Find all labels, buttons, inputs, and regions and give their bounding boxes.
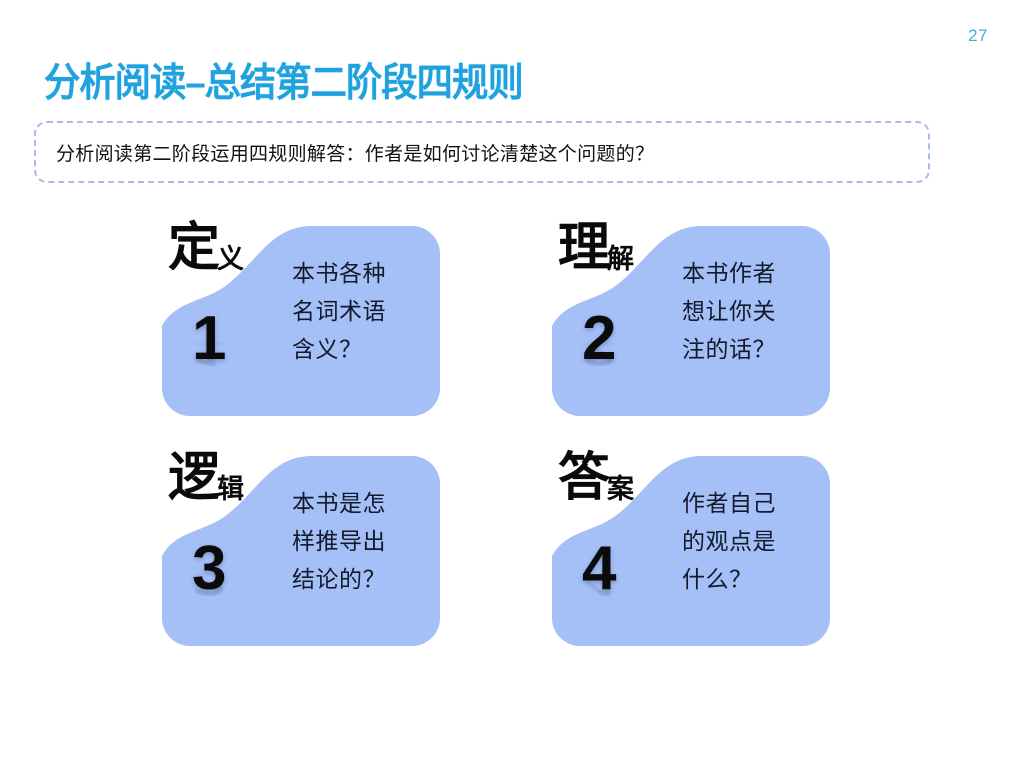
card-body-3: 本书是怎 样推导出 结论的？: [292, 484, 428, 598]
page-number: 27: [968, 26, 988, 46]
rule-card-1[interactable]: 1 定义 1 本书各种 名词术语 含义？: [162, 226, 440, 416]
card-label-1: 定义: [168, 222, 245, 274]
card-label-primary-4: 答: [558, 449, 608, 507]
card-body-line: 注的话？: [682, 330, 818, 368]
card-body-line: 样推导出: [292, 522, 428, 560]
subtitle-callout: 分析阅读第二阶段运用四规则解答：作者是如何讨论清楚这个问题的？: [34, 121, 930, 183]
card-body-line: 本书是怎: [292, 484, 428, 522]
card-label-secondary-3: 辑: [217, 474, 244, 504]
card-body-line: 名词术语: [292, 292, 428, 330]
page-title: 分析阅读–总结第二阶段四规则: [44, 52, 523, 108]
card-label-primary-1: 定: [168, 219, 218, 277]
card-body-line: 什么？: [682, 560, 818, 598]
subtitle-text: 分析阅读第二阶段运用四规则解答：作者是如何讨论清楚这个问题的？: [36, 139, 654, 166]
card-body-line: 含义？: [292, 330, 428, 368]
card-label-4: 答案: [558, 452, 635, 504]
card-label-3: 逻辑: [168, 452, 245, 504]
card-number-1: 1: [192, 308, 226, 370]
card-number-2: 2: [582, 308, 616, 370]
card-body-1: 本书各种 名词术语 含义？: [292, 254, 428, 368]
rule-card-3[interactable]: 3 逻辑 3 本书是怎 样推导出 结论的？: [162, 456, 440, 646]
card-body-line: 本书各种: [292, 254, 428, 292]
rule-card-4[interactable]: 4 答案 4 作者自己 的观点是 什么？: [552, 456, 830, 646]
card-body-line: 作者自己: [682, 484, 818, 522]
card-label-secondary-1: 义: [217, 244, 244, 274]
card-label-secondary-4: 案: [607, 474, 634, 504]
card-label-primary-3: 逻: [168, 449, 218, 507]
card-body-2: 本书作者 想让你关 注的话？: [682, 254, 818, 368]
card-body-line: 想让你关: [682, 292, 818, 330]
card-label-primary-2: 理: [558, 219, 608, 277]
card-number-4: 4: [582, 538, 616, 600]
card-label-2: 理解: [558, 222, 635, 274]
card-body-line: 结论的？: [292, 560, 428, 598]
card-body-line: 本书作者: [682, 254, 818, 292]
card-number-3: 3: [192, 538, 226, 600]
card-body-line: 的观点是: [682, 522, 818, 560]
card-body-4: 作者自己 的观点是 什么？: [682, 484, 818, 598]
card-label-secondary-2: 解: [607, 244, 634, 274]
rule-card-2[interactable]: 2 理解 2 本书作者 想让你关 注的话？: [552, 226, 830, 416]
